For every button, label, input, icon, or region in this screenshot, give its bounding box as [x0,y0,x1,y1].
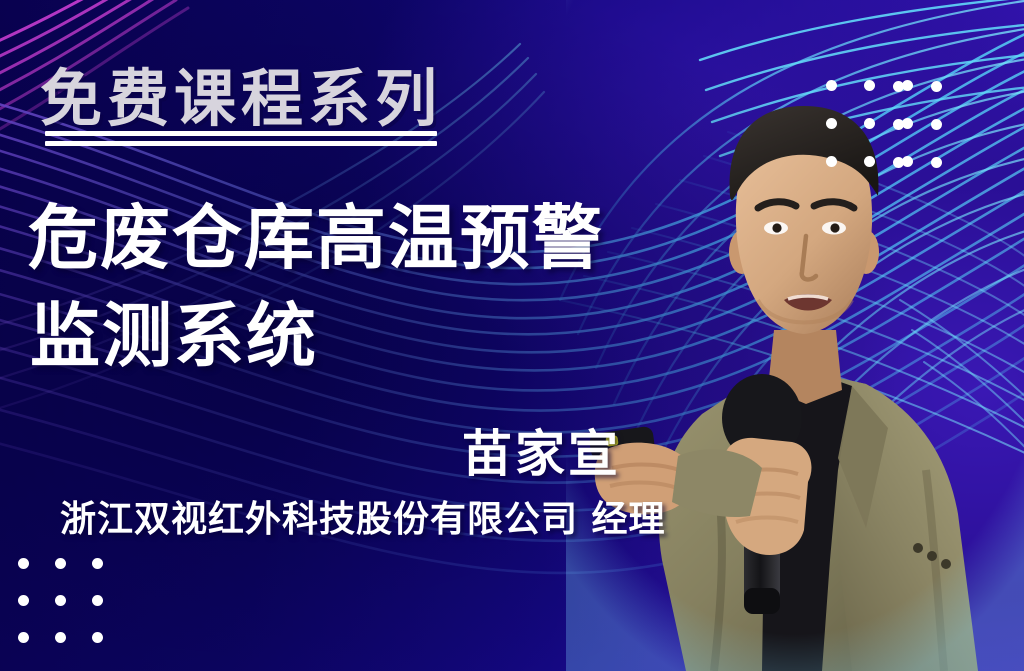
dot [55,595,66,606]
dot [18,595,29,606]
dot [826,80,837,91]
speaker-photo [566,0,1024,671]
divider-rule-bottom [45,141,437,146]
page-title-line-2: 监测系统 [30,280,318,381]
speaker-affiliation: 浙江双视红外科技股份有限公司 经理 [60,490,666,542]
dot [826,118,837,129]
dot [92,558,103,569]
page-title-line-1: 危废仓库高温预警 [28,182,604,283]
presentation-title-card: 免费课程系列 危废仓库高温预警 监测系统 苗家宣 浙江双视红外科技股份有限公司 … [0,0,1024,671]
dot [902,156,913,167]
divider-rule-top [45,131,437,136]
dot [864,156,875,167]
dot-grid-over-speaker [826,80,940,194]
dot [92,632,103,643]
title-divider-rules [45,131,437,146]
speaker-name: 苗家宣 [462,414,621,486]
dot [902,80,913,91]
dot [55,632,66,643]
dot [55,558,66,569]
dot [826,156,837,167]
dot [864,118,875,129]
dot-grid-bottom-left [18,558,129,669]
dot [92,595,103,606]
dot [18,632,29,643]
dot [902,118,913,129]
dot [864,80,875,91]
dot [18,558,29,569]
series-eyebrow-label: 免费课程系列 [40,48,442,138]
